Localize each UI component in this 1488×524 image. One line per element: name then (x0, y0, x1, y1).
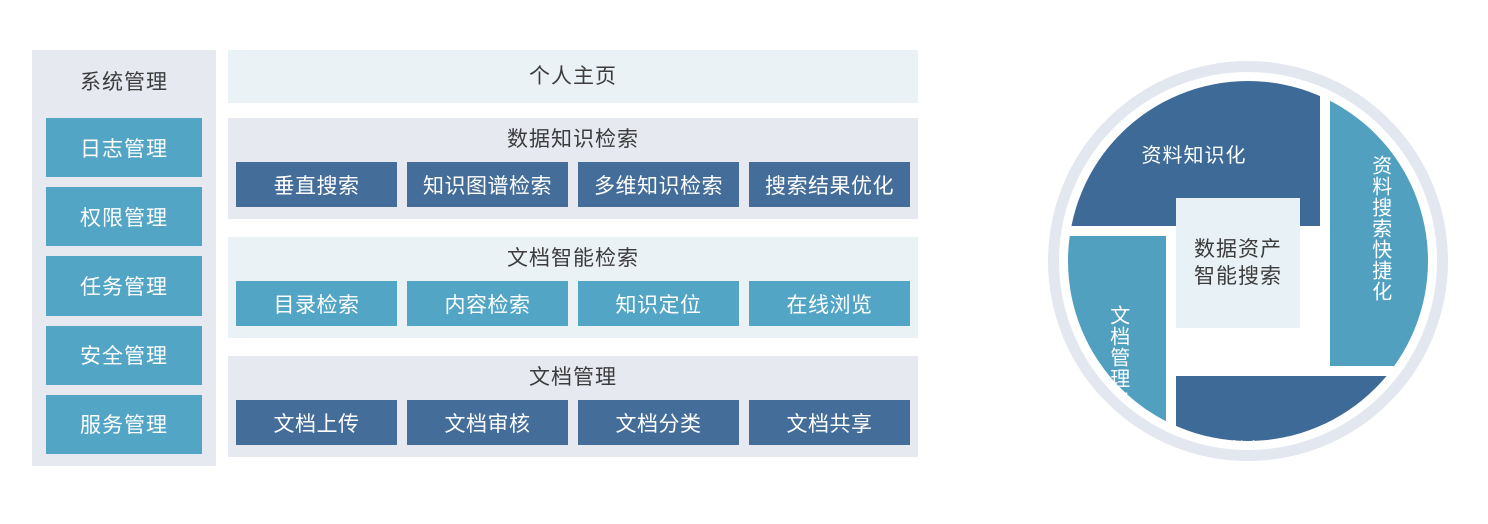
circle-segment-data-search-intelligence[interactable]: 数据搜索智能化 (1176, 376, 1428, 441)
panel-title-document-management: 文档管理 (228, 356, 918, 400)
chip-multidimensional-knowledge-retrieval[interactable]: 多维知识检索 (578, 162, 739, 207)
sidebar-item-service-management[interactable]: 服务管理 (46, 395, 202, 454)
chip-content-retrieval[interactable]: 内容检索 (407, 281, 568, 326)
panel-row-document-management: 文档上传 文档审核 文档分类 文档共享 (228, 400, 918, 455)
circle-segment-document-management-automation[interactable]: 文档管理自动化 (1068, 236, 1166, 441)
panel-data-knowledge-retrieval: 数据知识检索 垂直搜索 知识图谱检索 多维知识检索 搜索结果优化 (228, 118, 918, 219)
circular-pinwheel-diagram: 资料知识化 资料搜索快捷化 数据搜索智能化 文档管理自动化 数据资产 智能搜索 (1048, 43, 1448, 483)
chip-document-upload[interactable]: 文档上传 (236, 400, 397, 445)
panel-title-data-knowledge-retrieval: 数据知识检索 (228, 118, 918, 162)
sidebar-item-log-management[interactable]: 日志管理 (46, 118, 202, 177)
panel-row-data-knowledge-retrieval: 垂直搜索 知识图谱检索 多维知识检索 搜索结果优化 (228, 162, 918, 217)
sidebar: 系统管理 日志管理 权限管理 任务管理 安全管理 服务管理 (32, 50, 216, 466)
panel-personal-homepage: 个人主页 (228, 50, 918, 103)
chip-document-classification[interactable]: 文档分类 (578, 400, 739, 445)
panel-document-management: 文档管理 文档上传 文档审核 文档分类 文档共享 (228, 356, 918, 457)
circle-segment-material-search-convenience[interactable]: 资料搜索快捷化 (1330, 91, 1428, 366)
panel-title-document-intelligent-retrieval: 文档智能检索 (228, 237, 918, 281)
circle-center-line-1: 数据资产 (1194, 236, 1282, 263)
chip-document-sharing[interactable]: 文档共享 (749, 400, 910, 445)
circle-center-line-2: 智能搜索 (1194, 263, 1282, 290)
chip-document-review[interactable]: 文档审核 (407, 400, 568, 445)
panel-stack: 个人主页 数据知识检索 垂直搜索 知识图谱检索 多维知识检索 搜索结果优化 文档… (228, 50, 918, 466)
chip-online-browsing[interactable]: 在线浏览 (749, 281, 910, 326)
sidebar-item-task-management[interactable]: 任务管理 (46, 256, 202, 315)
sidebar-title: 系统管理 (46, 60, 202, 108)
chip-knowledge-graph-retrieval[interactable]: 知识图谱检索 (407, 162, 568, 207)
chip-search-result-optimization[interactable]: 搜索结果优化 (749, 162, 910, 207)
panel-title-personal-homepage: 个人主页 (228, 50, 918, 103)
chip-knowledge-location[interactable]: 知识定位 (578, 281, 739, 326)
sidebar-item-permission-management[interactable]: 权限管理 (46, 187, 202, 246)
panel-row-document-intelligent-retrieval: 目录检索 内容检索 知识定位 在线浏览 (228, 281, 918, 336)
sidebar-item-security-management[interactable]: 安全管理 (46, 326, 202, 385)
circle-center-label: 数据资产 智能搜索 (1176, 198, 1300, 328)
chip-vertical-search[interactable]: 垂直搜索 (236, 162, 397, 207)
panel-document-intelligent-retrieval: 文档智能检索 目录检索 内容检索 知识定位 在线浏览 (228, 237, 918, 338)
chip-catalog-retrieval[interactable]: 目录检索 (236, 281, 397, 326)
functional-block-diagram: 系统管理 日志管理 权限管理 任务管理 安全管理 服务管理 个人主页 数据知识检… (32, 50, 918, 466)
